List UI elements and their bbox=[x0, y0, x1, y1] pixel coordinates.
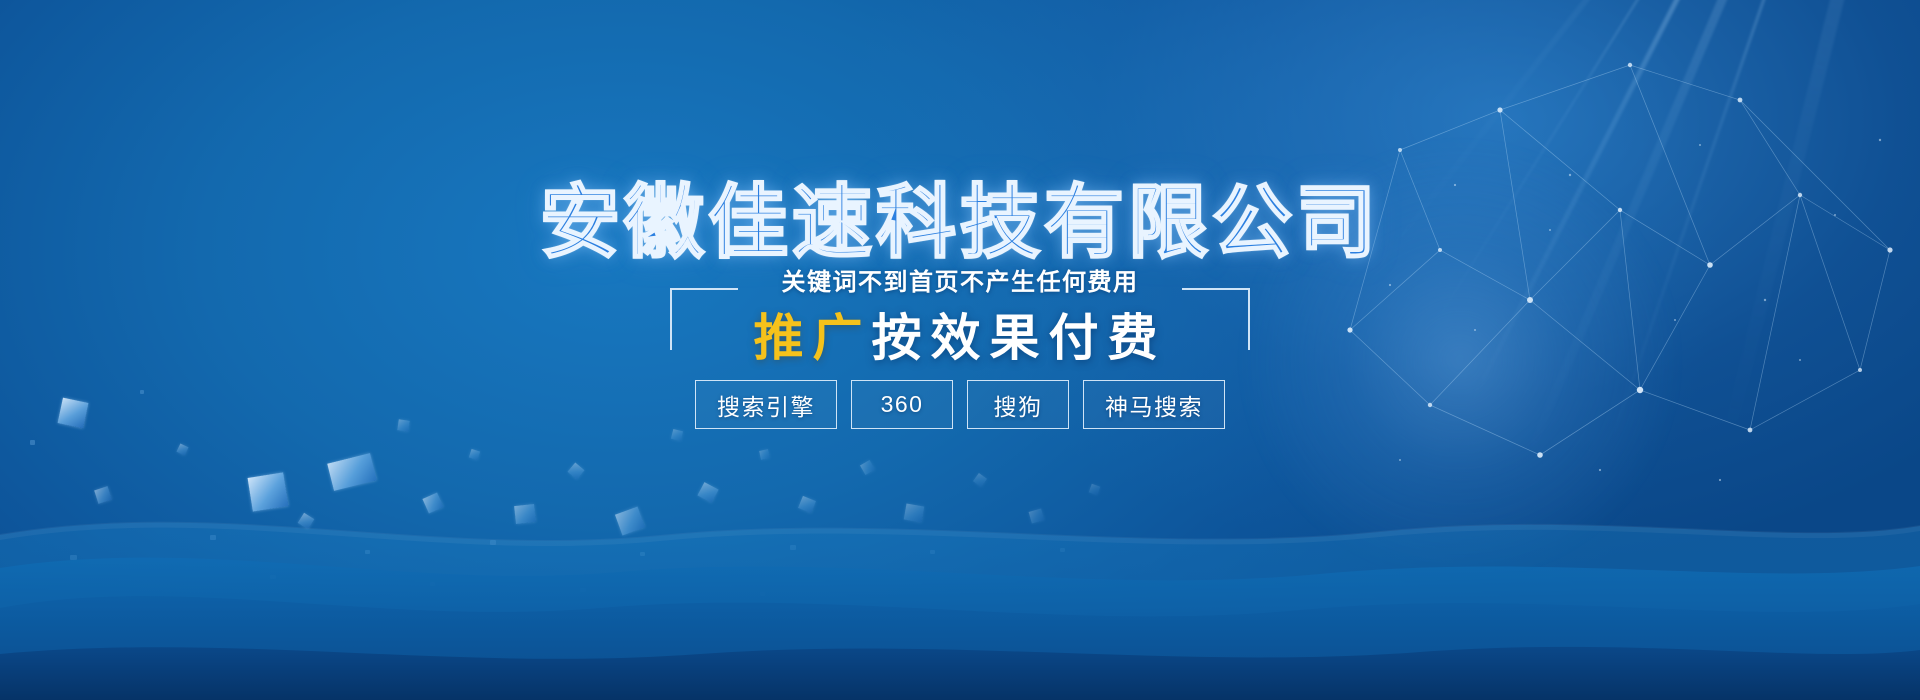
slogan-highlight-text: 推广 bbox=[754, 310, 872, 366]
page-title: 安徽佳速科技有限公司 bbox=[0, 158, 1920, 274]
engine-button-shenma[interactable]: 神马搜索 bbox=[1083, 380, 1225, 429]
engine-button-search-engine[interactable]: 搜索引擎 bbox=[695, 380, 837, 429]
slogan-rest-text: 按效果付费 bbox=[872, 310, 1167, 366]
banner-subtitle: 关键词不到首页不产生任何费用 bbox=[670, 262, 1250, 297]
engine-button-360[interactable]: 360 bbox=[851, 380, 953, 429]
banner-subtitle-text: 关键词不到首页不产生任何费用 bbox=[768, 269, 1153, 296]
banner-content: 安徽佳速科技有限公司 关键词不到首页不产生任何费用 推广按效果付费 搜索引擎 3… bbox=[0, 0, 1920, 700]
banner-slogan: 推广按效果付费 bbox=[670, 298, 1250, 370]
promo-banner: 安徽佳速科技有限公司 关键词不到首页不产生任何费用 推广按效果付费 搜索引擎 3… bbox=[0, 0, 1920, 700]
search-engine-button-group: 搜索引擎 360 搜狗 神马搜索 bbox=[695, 380, 1225, 429]
slogan-block: 关键词不到首页不产生任何费用 推广按效果付费 bbox=[670, 262, 1250, 372]
engine-button-sogou[interactable]: 搜狗 bbox=[967, 380, 1069, 429]
